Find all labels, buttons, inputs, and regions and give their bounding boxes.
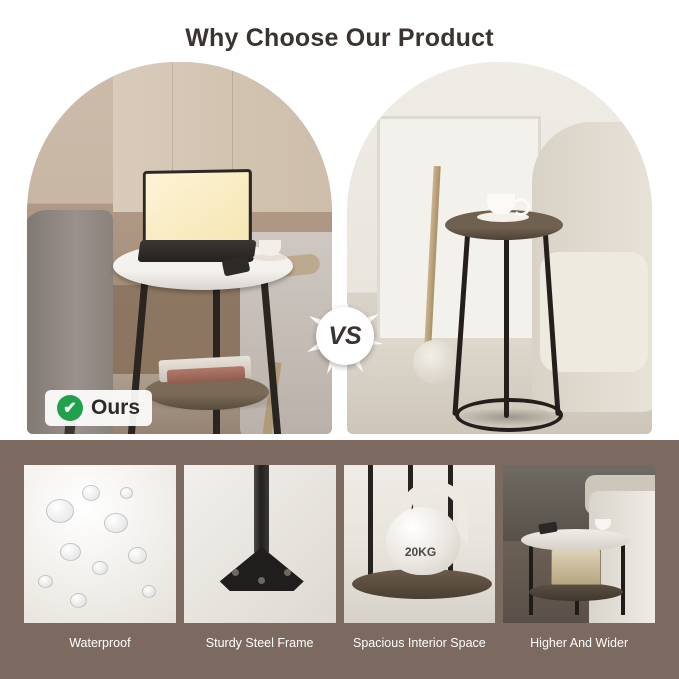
kettlebell-weight-label: 20KG — [344, 545, 496, 559]
table-top — [521, 529, 631, 551]
tabletop-surface — [24, 465, 176, 623]
water-drop — [46, 499, 74, 523]
feature-image-row: 20KG — [24, 465, 655, 623]
water-drop — [92, 561, 108, 575]
feature-image-interior-space: 20KG — [344, 465, 496, 623]
screw-hole — [232, 569, 239, 576]
floor-lamp-base — [413, 340, 457, 384]
comparison-section: ✔ Ours — [27, 62, 652, 434]
feature-label-waterproof: Waterproof — [24, 636, 176, 650]
check-circle-icon: ✔ — [57, 395, 83, 421]
table-leg — [621, 541, 625, 615]
water-drop — [70, 593, 87, 608]
ours-scene-image — [27, 62, 332, 434]
comparison-panel-ours: ✔ Ours — [27, 62, 332, 434]
badge-ours: ✔ Ours — [45, 390, 152, 426]
feature-image-higher-wider — [503, 465, 655, 623]
feature-image-steel-frame — [184, 465, 336, 623]
comparison-panel-others: ✖ Others — [347, 62, 652, 434]
retro-radio — [551, 549, 601, 585]
features-section: 20KG Waterproof Sturdy Steel Frame Spaci… — [0, 440, 679, 679]
vs-badge: VS — [316, 307, 374, 365]
water-drop — [60, 543, 81, 561]
table-base-ring — [455, 398, 563, 432]
cup-handle — [512, 198, 530, 216]
feature-label-steel-frame: Sturdy Steel Frame — [184, 636, 336, 650]
feature-label-row: Waterproof Sturdy Steel Frame Spacious I… — [24, 636, 655, 650]
badge-ours-label: Ours — [91, 396, 140, 420]
feature-label-interior-space: Spacious Interior Space — [344, 636, 496, 650]
table-leg — [213, 276, 220, 434]
water-drop — [104, 513, 128, 533]
feature-image-waterproof — [24, 465, 176, 623]
screw-hole — [284, 569, 291, 576]
water-drop — [128, 547, 147, 564]
product-infographic: Why Choose Our Product — [0, 0, 679, 679]
steel-leg — [254, 465, 269, 555]
table-leg — [504, 230, 509, 418]
others-scene-image — [347, 62, 652, 434]
water-drop — [82, 485, 100, 501]
feature-label-higher-wider: Higher And Wider — [503, 636, 655, 650]
page-title: Why Choose Our Product — [0, 24, 679, 53]
frame-rod — [368, 465, 373, 577]
water-drop — [120, 487, 133, 499]
coffee-cup — [487, 194, 515, 214]
kettlebell-body — [386, 507, 460, 575]
laptop-screen — [143, 169, 252, 251]
table-lower-shelf — [529, 583, 623, 601]
table-leg — [529, 541, 533, 615]
water-drop — [38, 575, 53, 588]
water-drop — [142, 585, 156, 598]
screw-hole — [258, 577, 265, 584]
